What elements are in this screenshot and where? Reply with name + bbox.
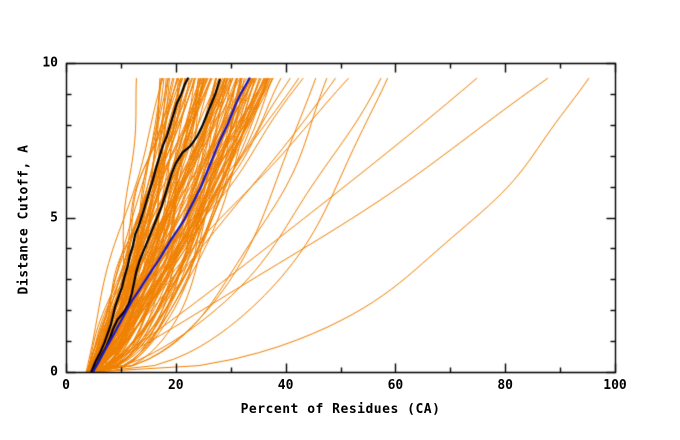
- x-tick-label-100: 100: [603, 378, 626, 393]
- y-tick-label-0: 0: [42, 365, 58, 380]
- figure-root: T0990-D3 Percent of Residues (CA) Distan…: [0, 0, 680, 440]
- y-tick-label-5: 5: [42, 210, 58, 225]
- x-tick-label-40: 40: [278, 378, 294, 393]
- plot-canvas: [0, 0, 680, 440]
- x-tick-label-60: 60: [388, 378, 404, 393]
- x-tick-label-0: 0: [62, 378, 70, 393]
- x-tick-label-80: 80: [497, 378, 513, 393]
- y-axis-label: Distance Cutoff, A: [17, 145, 32, 295]
- y-tick-label-10: 10: [34, 56, 58, 71]
- x-axis-label: Percent of Residues (CA): [66, 402, 615, 417]
- x-tick-label-20: 20: [168, 378, 184, 393]
- y-axis-label-wrapper: Distance Cutoff, A: [13, 65, 32, 375]
